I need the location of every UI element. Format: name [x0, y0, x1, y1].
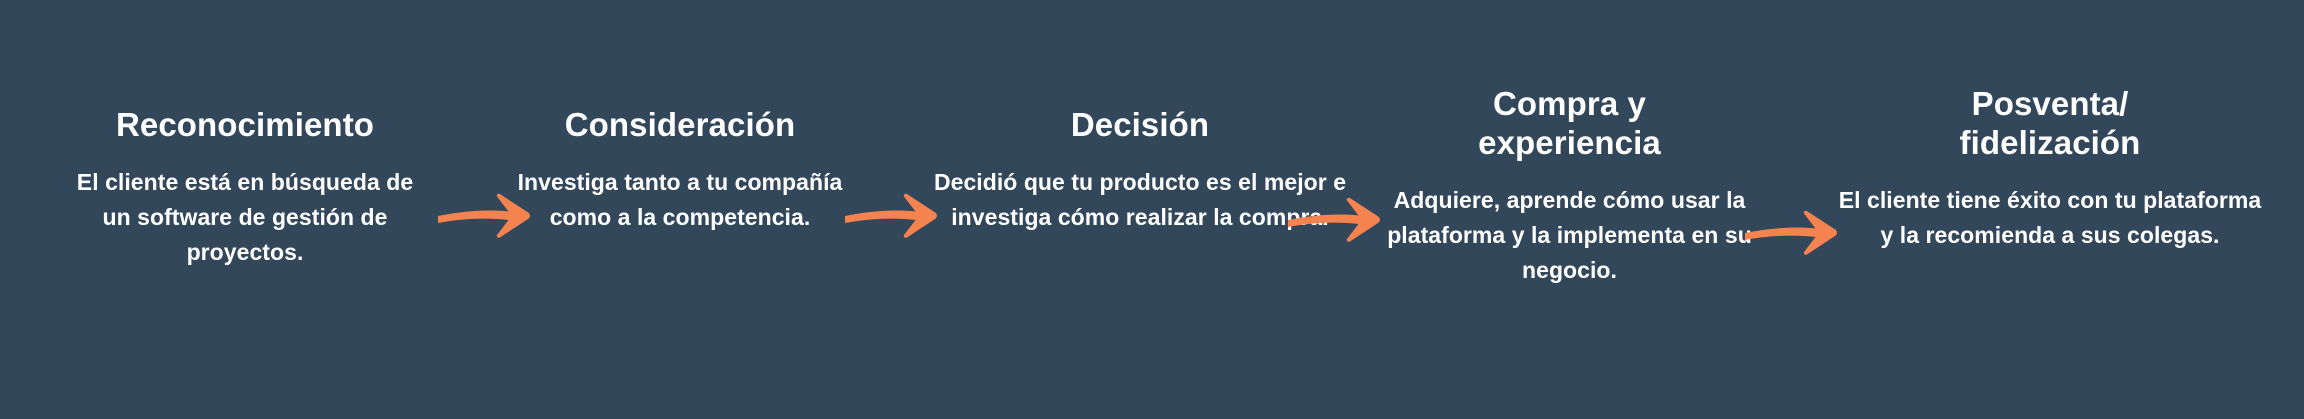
stage-description: Investiga tanto a tu compañía como a la … [505, 165, 855, 235]
stage-description: Adquiere, aprende cómo usar la plataform… [1382, 183, 1757, 288]
stage-description: El cliente tiene éxito con tu plataforma… [1830, 183, 2270, 253]
stage-title: Compra y experiencia [1382, 85, 1757, 163]
stage-title: Consideración [505, 106, 855, 145]
stage-title: Reconocimiento [60, 106, 430, 145]
journey-stage-reconocimiento: Reconocimiento El cliente está en búsque… [60, 106, 430, 270]
stage-title: Posventa/ fidelización [1830, 85, 2270, 163]
journey-stage-posventa-fidelizacion: Posventa/ fidelización El cliente tiene … [1830, 85, 2270, 253]
stage-title: Decisión [920, 106, 1360, 145]
journey-stage-compra-y-experiencia: Compra y experiencia Adquiere, aprende c… [1382, 85, 1757, 288]
customer-journey-diagram: Reconocimiento El cliente está en búsque… [0, 0, 2304, 419]
journey-stage-consideracion: Consideración Investiga tanto a tu compa… [505, 106, 855, 235]
stage-description: El cliente está en búsqueda de un softwa… [60, 165, 430, 270]
